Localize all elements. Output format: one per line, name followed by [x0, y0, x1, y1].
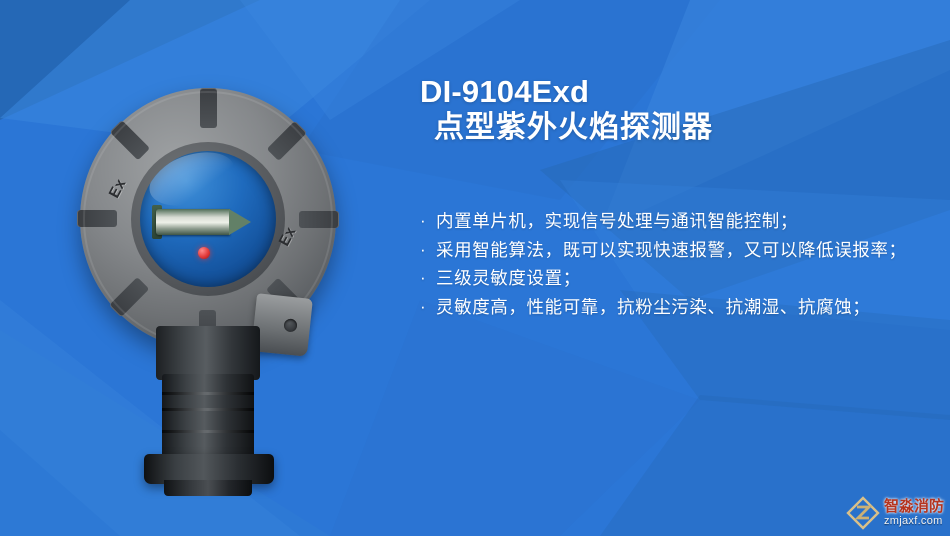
lens-glare	[143, 151, 242, 215]
product-photo: Ex Ex	[58, 88, 358, 488]
flange-segment	[200, 88, 217, 128]
lens-bezel	[131, 142, 285, 296]
watermark: 智淼消防 zmjaxf.com	[846, 493, 944, 533]
shield-z-icon	[846, 496, 880, 530]
mounting-bracket	[251, 293, 313, 357]
feature-item: · 三级灵敏度设置；	[420, 265, 948, 293]
uv-sensor-tip	[229, 209, 251, 235]
feature-list: · 内置单片机，实现信号处理与通讯智能控制； · 采用智能算法，既可以实现快速报…	[420, 208, 948, 323]
bullet-icon: ·	[420, 294, 436, 321]
flange-segment	[109, 277, 149, 317]
detector-lens	[140, 151, 276, 287]
watermark-text: 智淼消防 zmjaxf.com	[884, 499, 944, 527]
feature-text: 内置单片机，实现信号处理与通讯智能控制；	[436, 208, 948, 236]
bullet-icon: ·	[420, 237, 436, 264]
ex-marking-right: Ex	[276, 224, 300, 249]
product-slide: Ex Ex DI-9104Exd 点型紫外火焰探测器 · 内置单片机，实现信号处…	[0, 0, 950, 536]
bullet-icon: ·	[420, 208, 436, 235]
conduit-collar	[162, 374, 254, 460]
status-led-indicator	[198, 247, 210, 259]
feature-item: · 采用智能算法，既可以实现快速报警，又可以降低误报率；	[420, 237, 948, 265]
bracket-bolt-hole	[283, 318, 297, 332]
conduit-stem	[164, 480, 252, 496]
flange-segment	[110, 120, 150, 160]
uv-sensor-tube	[156, 209, 230, 235]
feature-item: · 内置单片机，实现信号处理与通讯智能控制；	[420, 208, 948, 236]
uv-tube-base	[152, 205, 162, 239]
product-name-title: 点型紫外火焰探测器	[434, 111, 940, 145]
feature-text: 采用智能算法，既可以实现快速报警，又可以降低误报率；	[436, 237, 948, 265]
feature-text: 三级灵敏度设置；	[436, 265, 948, 293]
ex-marking-left: Ex	[106, 176, 130, 201]
feature-item: · 灵敏度高，性能可靠，抗粉尘污染、抗潮湿、抗腐蚀；	[420, 294, 948, 322]
detector-neck	[156, 326, 260, 380]
flange-segment	[77, 210, 117, 227]
bullet-icon: ·	[420, 265, 436, 292]
product-model-title: DI-9104Exd	[420, 76, 940, 109]
feature-text: 灵敏度高，性能可靠，抗粉尘污染、抗潮湿、抗腐蚀；	[436, 294, 948, 322]
flange-segment	[267, 121, 307, 161]
brand-website: zmjaxf.com	[884, 516, 944, 527]
brand-name: 智淼消防	[884, 499, 944, 514]
title-block: DI-9104Exd 点型紫外火焰探测器	[420, 76, 940, 144]
flange-segment	[299, 211, 339, 228]
brand-logo-icon	[846, 496, 880, 530]
text-column: DI-9104Exd 点型紫外火焰探测器 · 内置单片机，实现信号处理与通讯智能…	[412, 0, 950, 536]
